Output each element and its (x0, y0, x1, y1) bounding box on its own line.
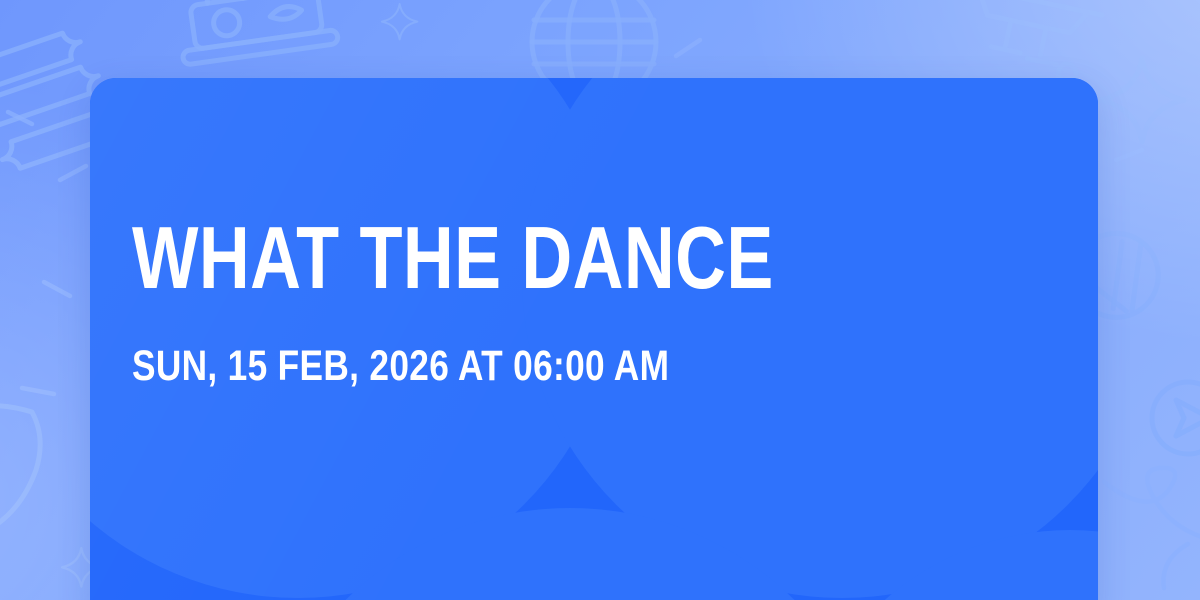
play-circle-icon (1152, 382, 1200, 454)
sparkle-icon (382, 4, 417, 39)
streamer-icon (1104, 468, 1200, 588)
event-title: WHAT THE DANCE (132, 218, 871, 299)
event-datetime: SUN, 15 FEB, 2026 AT 06:00 AM (132, 345, 890, 388)
sparkle-icon (1100, 58, 1184, 142)
event-card-content: WHAT THE DANCE SUN, 15 FEB, 2026 AT 06:0… (132, 78, 1056, 600)
drum-stand-icon (950, 0, 1102, 87)
dj-turntable-icon (174, 0, 339, 65)
theater-masks-icon (0, 406, 40, 582)
event-banner: WHAT THE DANCE SUN, 15 FEB, 2026 AT 06:0… (0, 0, 1200, 600)
event-card[interactable]: WHAT THE DANCE SUN, 15 FEB, 2026 AT 06:0… (90, 78, 1098, 600)
